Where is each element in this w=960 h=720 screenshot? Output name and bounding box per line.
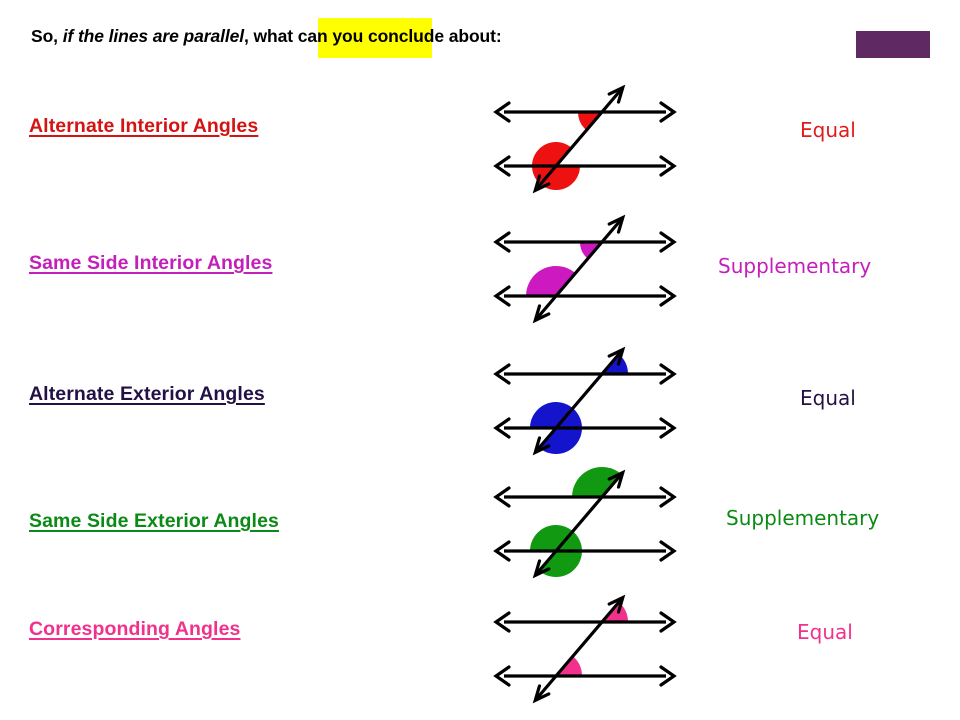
angle-relationship-conclusion: Equal xyxy=(797,620,853,644)
angle-relationship-label: Alternate Exterior Angles xyxy=(29,383,265,406)
angle-relationship-conclusion: Equal xyxy=(800,386,856,410)
parallel-lines-transversal-diagram xyxy=(484,200,704,330)
page-title-prefix: So, xyxy=(31,26,63,46)
angle-relationship-row: Same Side Interior AnglesSupplementary xyxy=(0,200,960,330)
angle-relationship-label: Same Side Interior Angles xyxy=(29,252,272,275)
angle-relationship-label: Corresponding Angles xyxy=(29,618,240,641)
corner-color-swatch xyxy=(856,31,930,58)
page-title-suffix: , what can you conclude about: xyxy=(244,26,502,46)
angle-relationship-conclusion: Equal xyxy=(800,118,856,142)
angle-relationship-conclusion: Supplementary xyxy=(726,506,879,530)
angle-relationship-row: Alternate Exterior AnglesEqual xyxy=(0,332,960,462)
angle-relationship-label: Alternate Interior Angles xyxy=(29,115,258,138)
angle-relationship-row: Corresponding AnglesEqual xyxy=(0,580,960,710)
parallel-lines-transversal-diagram xyxy=(484,70,704,200)
page-title: So, if the lines are parallel, what can … xyxy=(31,26,502,47)
angle-relationship-row: Same Side Exterior AnglesSupplementary xyxy=(0,455,960,585)
page-title-emphasis: if the lines are parallel xyxy=(63,26,244,46)
angle-relationship-label: Same Side Exterior Angles xyxy=(29,510,279,533)
angle-relationship-conclusion: Supplementary xyxy=(718,254,871,278)
parallel-lines-transversal-diagram xyxy=(484,455,704,585)
angle-relationship-row: Alternate Interior AnglesEqual xyxy=(0,70,960,200)
parallel-lines-transversal-diagram xyxy=(484,332,704,462)
parallel-lines-transversal-diagram xyxy=(484,580,704,710)
